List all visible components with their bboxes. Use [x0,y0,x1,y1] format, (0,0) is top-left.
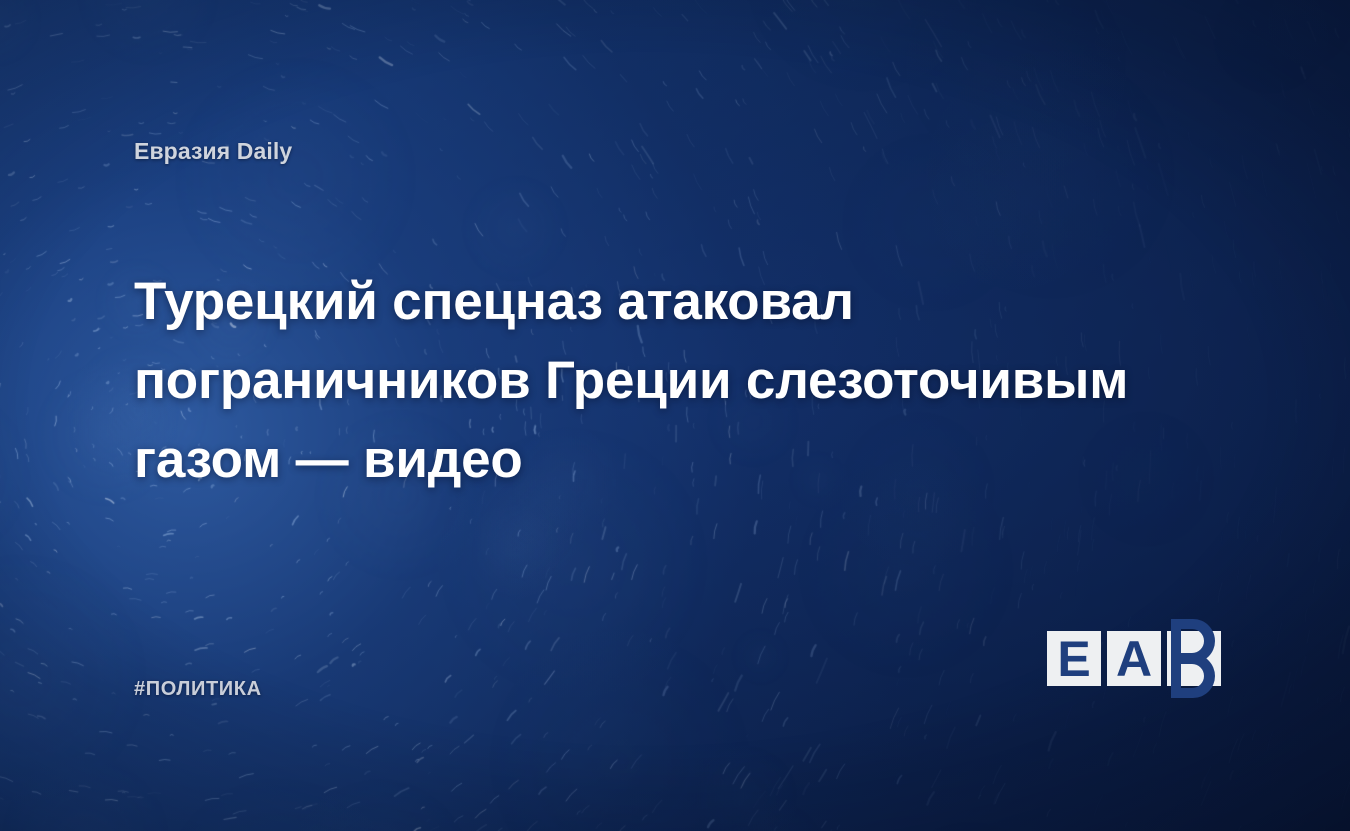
logo-letter-d-icon [1163,617,1225,700]
logo-letter-e: E [1047,634,1101,684]
page-title: Турецкий спецназ атаковал пограничников … [134,262,1194,499]
card-content: Евразия Daily Турецкий спецназ атаковал … [0,0,1350,831]
brand-title: Евразия Daily [134,138,292,165]
category-tag[interactable]: #ПОЛИТИКА [134,678,262,701]
eadaily-logo[interactable]: E A [1047,631,1223,686]
logo-letter-a: A [1107,634,1161,684]
logo-tile-e: E [1047,631,1101,686]
logo-tile-a: A [1107,631,1161,686]
social-share-card: Евразия Daily Турецкий спецназ атаковал … [0,0,1350,831]
logo-tile-d [1167,631,1221,686]
